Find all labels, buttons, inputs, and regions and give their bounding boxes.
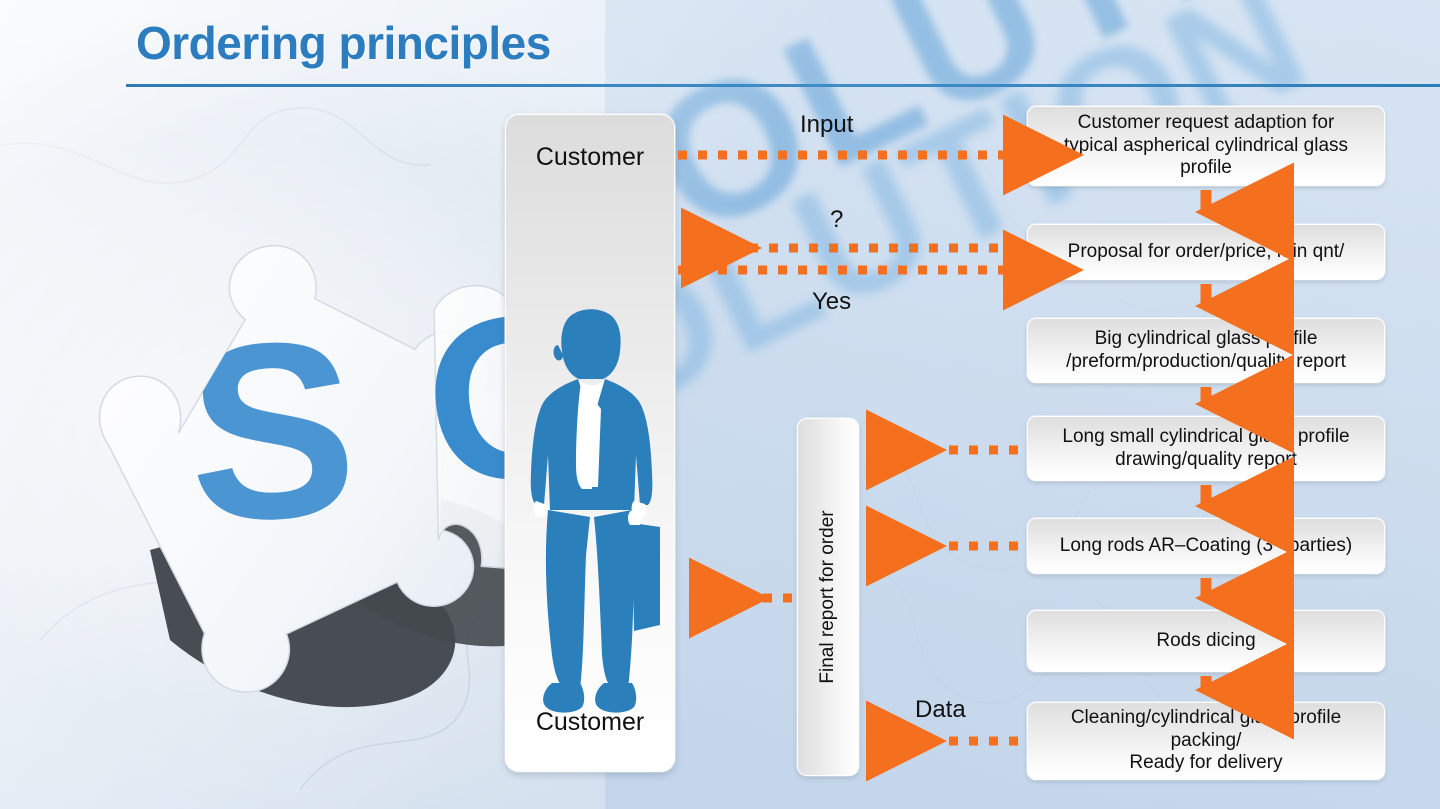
flow-label-yes: Yes — [812, 288, 851, 316]
process-step-7[interactable]: Cleaning/cylindrical glass profile packi… — [1027, 702, 1385, 780]
step-3-line-1: Big cylindrical glass profile — [1066, 328, 1346, 350]
flow-label-input: Input — [800, 111, 853, 139]
step-3-line-2: /preform/production/quality report — [1066, 351, 1346, 373]
final-report-label: Final report for order — [817, 510, 839, 683]
step-7-line-2: packing/ — [1071, 730, 1341, 752]
step-5-line-1: Long rods AR–Coating (3rd parties) — [1060, 534, 1352, 558]
flow-label-question: ? — [830, 206, 843, 234]
process-step-1[interactable]: Customer request adaption for typical as… — [1027, 106, 1385, 186]
process-step-4[interactable]: Long small cylindrical glass profile dra… — [1027, 416, 1385, 481]
step-1-line-3: profile — [1064, 157, 1348, 179]
step-5-text: Long rods AR–Coating (3rd parties) — [1060, 535, 1352, 556]
step-4-line-2: drawing/quality report — [1062, 449, 1349, 471]
customer-panel[interactable]: Customer — [505, 114, 675, 772]
step-7-line-3: Ready for delivery — [1071, 752, 1341, 774]
businessman-silhouette-icon — [522, 305, 660, 720]
customer-label-top: Customer — [506, 143, 674, 172]
process-step-6[interactable]: Rods dicing — [1027, 610, 1385, 672]
process-step-5[interactable]: Long rods AR–Coating (3rd parties) — [1027, 518, 1385, 574]
process-step-2[interactable]: Proposal for order/price, min qnt/ — [1027, 224, 1385, 280]
step-2-line-1: Proposal for order/price, min qnt/ — [1068, 241, 1345, 263]
step-4-line-1: Long small cylindrical glass profile — [1062, 426, 1349, 448]
slide-canvas: SOLUTION SOLUTION S — [0, 0, 1440, 809]
step-7-line-1: Cleaning/cylindrical glass profile — [1071, 707, 1341, 729]
customer-label-bottom: Customer — [506, 708, 674, 737]
step-1-line-2: typical aspherical cylindrical glass — [1064, 135, 1348, 157]
flow-label-data: Data — [915, 696, 966, 724]
step-6-line-1: Rods dicing — [1156, 630, 1255, 652]
step-1-line-1: Customer request adaption for — [1064, 112, 1348, 134]
final-report-panel[interactable]: Final report for order — [797, 418, 859, 776]
title-divider — [126, 84, 1440, 87]
page-title: Ordering principles — [136, 16, 551, 70]
process-step-3[interactable]: Big cylindrical glass profile /preform/p… — [1027, 318, 1385, 383]
